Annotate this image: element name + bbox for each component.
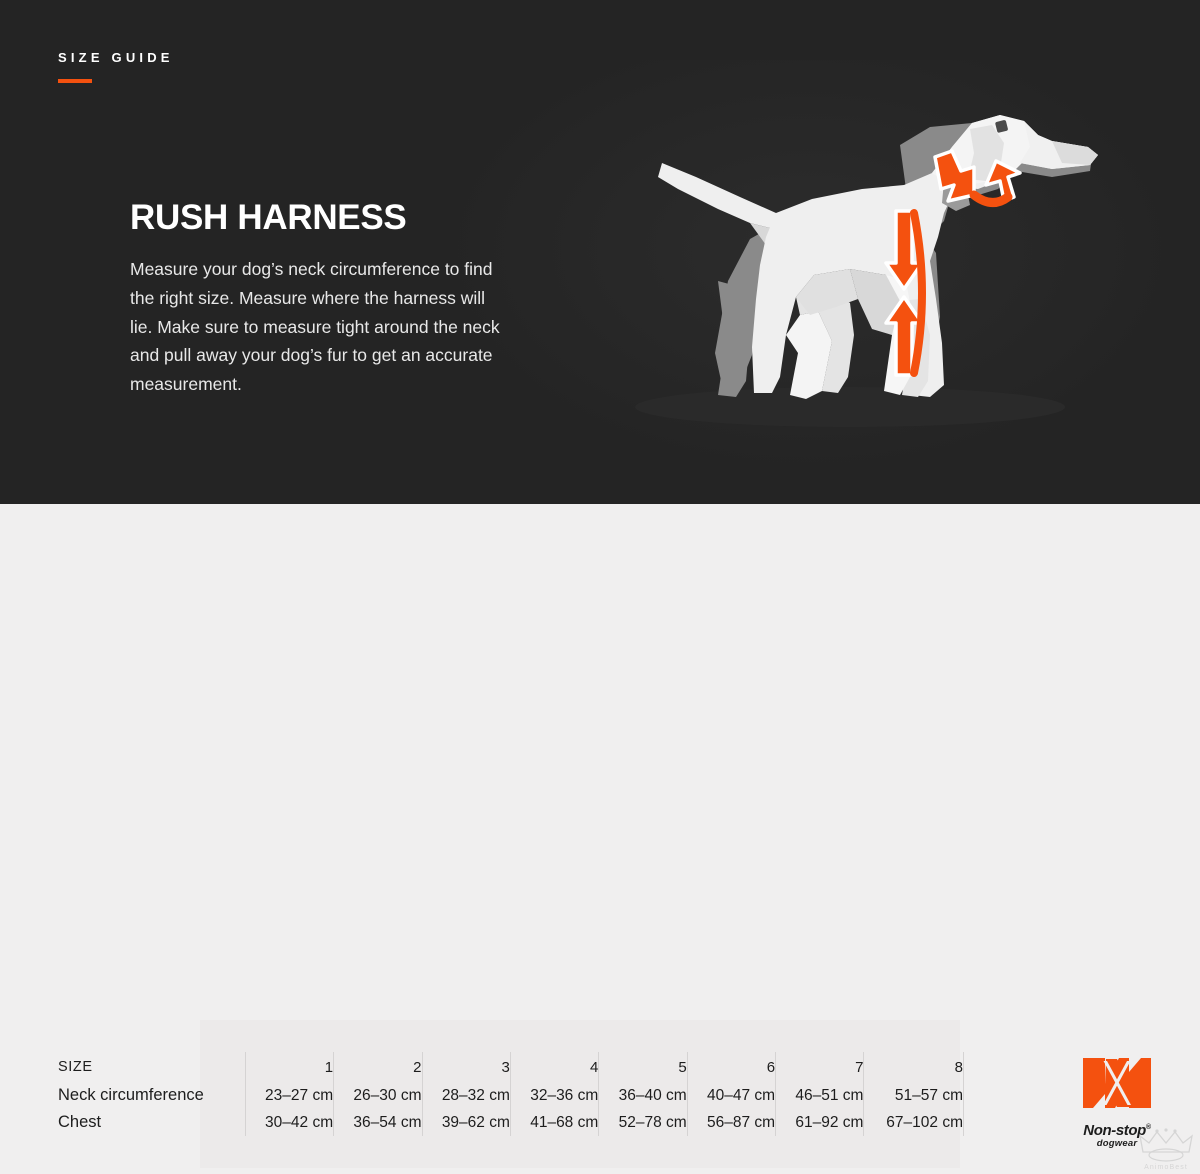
chest-value-8: 67–102 cm <box>864 1109 964 1136</box>
chest-value-2: 36–54 cm <box>334 1109 422 1136</box>
eyebrow-block: SIZE GUIDE <box>58 50 174 83</box>
neck-value-5: 36–40 cm <box>599 1082 687 1109</box>
table-trailing-divider <box>964 1052 965 1082</box>
watermark: AnimoBest <box>1137 1128 1195 1174</box>
size-column-header-5: 5 <box>599 1052 687 1082</box>
accent-rule <box>58 79 92 83</box>
size-column-header-4: 4 <box>510 1052 598 1082</box>
chest-value-6: 56–87 cm <box>687 1109 775 1136</box>
row-label-neck: Neck circumference <box>58 1082 245 1109</box>
size-column-header-1: 1 <box>245 1052 333 1082</box>
nonstop-mark-icon <box>1079 1052 1155 1114</box>
row-trailing-divider <box>964 1109 965 1136</box>
ground-shadow <box>635 387 1065 427</box>
watermark-label: AnimoBest <box>1137 1164 1195 1171</box>
size-column-header-3: 3 <box>422 1052 510 1082</box>
neck-value-2: 26–30 cm <box>334 1082 422 1109</box>
neck-value-8: 51–57 cm <box>864 1082 964 1109</box>
neck-value-6: 40–47 cm <box>687 1082 775 1109</box>
row-label-chest: Chest <box>58 1109 245 1136</box>
eyebrow-label: SIZE GUIDE <box>58 50 174 65</box>
size-column-header-6: 6 <box>687 1052 775 1082</box>
dog-tail <box>658 163 782 231</box>
chest-value-1: 30–42 cm <box>245 1109 333 1136</box>
crown-watermark-icon <box>1137 1128 1195 1162</box>
size-header: SIZE <box>58 1052 245 1082</box>
neck-value-4: 32–36 cm <box>510 1082 598 1109</box>
page-title: RUSH HARNESS <box>130 198 406 238</box>
hero-panel: SIZE GUIDE RUSH HARNESS Measure your dog… <box>0 0 1200 504</box>
size-table: SIZE 1 2 3 4 5 6 7 8 Neck circumference … <box>58 1052 964 1136</box>
size-column-header-2: 2 <box>334 1052 422 1082</box>
chest-value-4: 41–68 cm <box>510 1109 598 1136</box>
instructions-text: Measure your dog’s neck circumference to… <box>130 255 512 399</box>
chest-value-5: 52–78 cm <box>599 1109 687 1136</box>
neck-value-7: 46–51 cm <box>776 1082 864 1109</box>
neck-value-3: 28–32 cm <box>422 1082 510 1109</box>
dog-side-profile-illustration <box>600 85 1100 430</box>
table-row: Neck circumference 23–27 cm 26–30 cm 28–… <box>58 1082 964 1109</box>
size-column-header-8: 8 <box>864 1052 964 1082</box>
row-trailing-divider <box>964 1082 965 1109</box>
chest-value-3: 39–62 cm <box>422 1109 510 1136</box>
table-header-row: SIZE 1 2 3 4 5 6 7 8 <box>58 1052 964 1082</box>
size-table-panel: SIZE 1 2 3 4 5 6 7 8 Neck circumference … <box>0 504 1200 675</box>
chest-value-7: 61–92 cm <box>776 1109 864 1136</box>
neck-value-1: 23–27 cm <box>245 1082 333 1109</box>
table-row: Chest 30–42 cm 36–54 cm 39–62 cm 41–68 c… <box>58 1109 964 1136</box>
size-column-header-7: 7 <box>776 1052 864 1082</box>
